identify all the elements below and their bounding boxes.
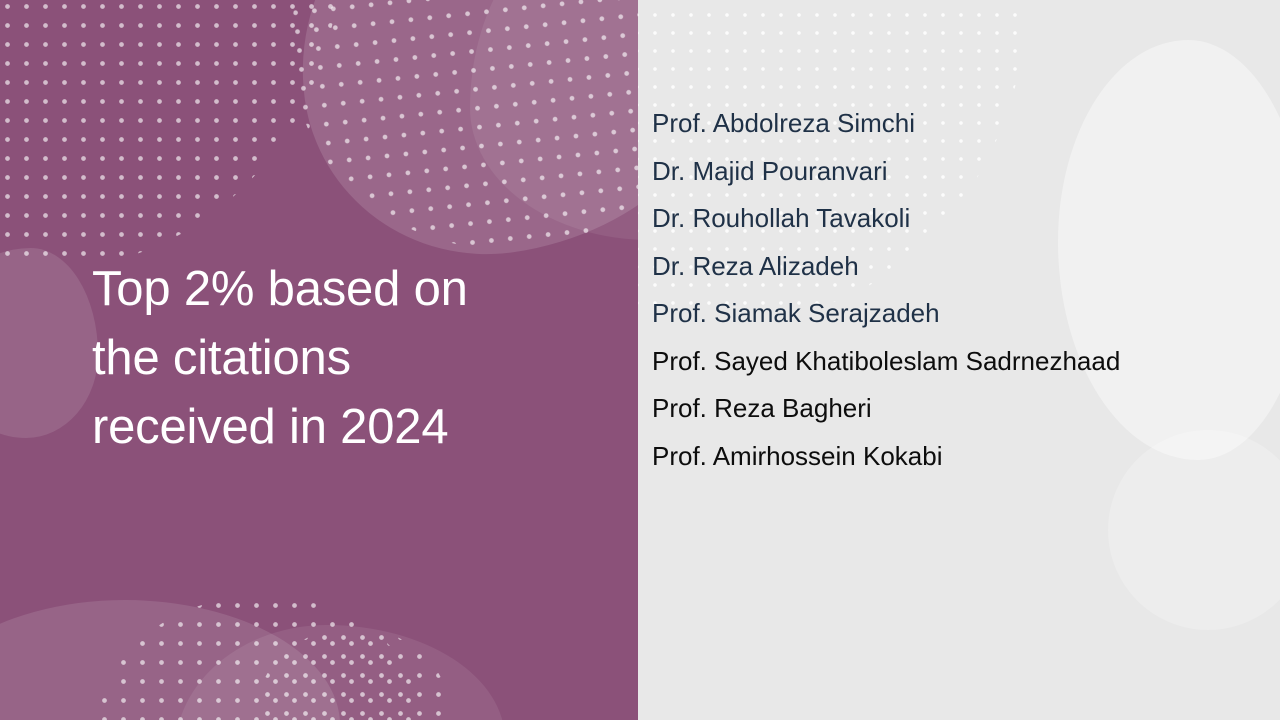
decorative-blob-top-center (274, 0, 638, 278)
list-item: Dr. Rouhollah Tavakoli (652, 195, 1272, 243)
list-item: Prof. Reza Bagheri (652, 385, 1272, 433)
left-title-panel: Top 2% based on the citations received i… (0, 0, 638, 720)
researcher-name-list: Prof. Abdolreza SimchiDr. Majid Pouranva… (652, 100, 1272, 480)
slide-canvas: Top 2% based on the citations received i… (0, 0, 1280, 720)
right-content-panel: Prof. Abdolreza SimchiDr. Majid Pouranva… (638, 0, 1280, 720)
decorative-blob-top-right (470, 0, 638, 240)
decorative-dot-pattern-top-center (269, 0, 638, 271)
decorative-dot-pattern-top-left (0, 0, 340, 270)
list-item: Prof. Amirhossein Kokabi (652, 433, 1272, 481)
decorative-blob-left-middle (0, 248, 98, 438)
list-item: Prof. Siamak Serajzadeh (652, 290, 1272, 338)
list-item: Dr. Majid Pouranvari (652, 148, 1272, 196)
list-item: Prof. Abdolreza Simchi (652, 100, 1272, 148)
slide-title: Top 2% based on the citations received i… (92, 255, 562, 462)
decorative-dot-pattern-bottom-right (258, 628, 448, 720)
decorative-blob-bottom-left (0, 600, 340, 720)
decorative-dot-pattern-bottom (95, 596, 425, 720)
decorative-blob-bottom-center (175, 625, 505, 720)
list-item: Prof. Sayed Khatiboleslam Sadrnezhaad (652, 338, 1272, 386)
list-item: Dr. Reza Alizadeh (652, 243, 1272, 291)
